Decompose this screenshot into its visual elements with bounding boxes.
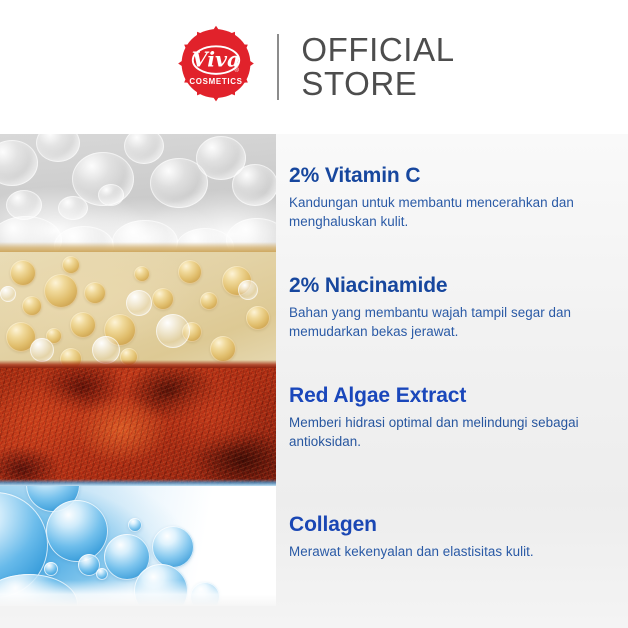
ingredient-description-collagen: Merawat kekenyalan dan elastisitas kulit… bbox=[289, 542, 609, 561]
product-ingredient-infographic: Viva ® COSMETICS OFFICIAL STORE bbox=[0, 0, 628, 628]
ingredient-image-niacinamide bbox=[0, 252, 276, 368]
algae-fiber-overlay-secondary bbox=[0, 368, 276, 486]
ingredient-description-niacinamide: Bahan yang membantu wajah tampil segar d… bbox=[289, 303, 609, 342]
ingredient-description-red-algae-extract: Memberi hidrasi optimal dan melindungi s… bbox=[289, 413, 609, 452]
ingredient-block-niacinamide: 2% Niacinamide Bahan yang membantu wajah… bbox=[289, 274, 609, 341]
header-divider bbox=[277, 34, 279, 100]
ingredient-block-red-algae-extract: Red Algae Extract Memberi hidrasi optima… bbox=[289, 384, 609, 451]
panel-2-bottom-edge bbox=[0, 360, 276, 368]
official-store-line-1: OFFICIAL bbox=[301, 33, 454, 67]
ingredient-title-collagen: Collagen bbox=[289, 513, 609, 537]
ingredient-image-collagen bbox=[0, 486, 276, 606]
ingredient-title-red-algae-extract: Red Algae Extract bbox=[289, 384, 609, 408]
ingredient-image-vitamin-c bbox=[0, 134, 276, 252]
official-store-title: OFFICIAL STORE bbox=[301, 33, 454, 102]
svg-text:Viva: Viva bbox=[192, 48, 241, 72]
panel-4-bottom-fade bbox=[0, 580, 276, 606]
official-store-line-2: STORE bbox=[301, 67, 454, 101]
ingredient-block-collagen: Collagen Merawat kekenyalan dan elastisi… bbox=[289, 513, 609, 561]
ingredient-description-vitamin-c: Kandungan untuk membantu mencerahkan dan… bbox=[289, 193, 609, 232]
brand-lockup: Viva ® COSMETICS OFFICIAL STORE bbox=[173, 24, 454, 110]
viva-cosmetics-logo: Viva ® COSMETICS bbox=[173, 24, 259, 110]
ingredient-title-vitamin-c: 2% Vitamin C bbox=[289, 164, 609, 188]
brand-header: Viva ® COSMETICS OFFICIAL STORE bbox=[0, 0, 628, 134]
svg-text:COSMETICS: COSMETICS bbox=[190, 77, 243, 86]
ingredient-image-red-algae bbox=[0, 368, 276, 486]
svg-text:®: ® bbox=[235, 67, 240, 74]
panel-3-bottom-edge bbox=[0, 479, 276, 486]
ingredient-block-vitamin-c: 2% Vitamin C Kandungan untuk membantu me… bbox=[289, 164, 609, 231]
flower-badge-icon: Viva ® COSMETICS bbox=[173, 24, 259, 110]
panel-1-bottom-edge bbox=[0, 242, 276, 252]
ingredient-title-niacinamide: 2% Niacinamide bbox=[289, 274, 609, 298]
ingredient-image-column bbox=[0, 134, 276, 606]
